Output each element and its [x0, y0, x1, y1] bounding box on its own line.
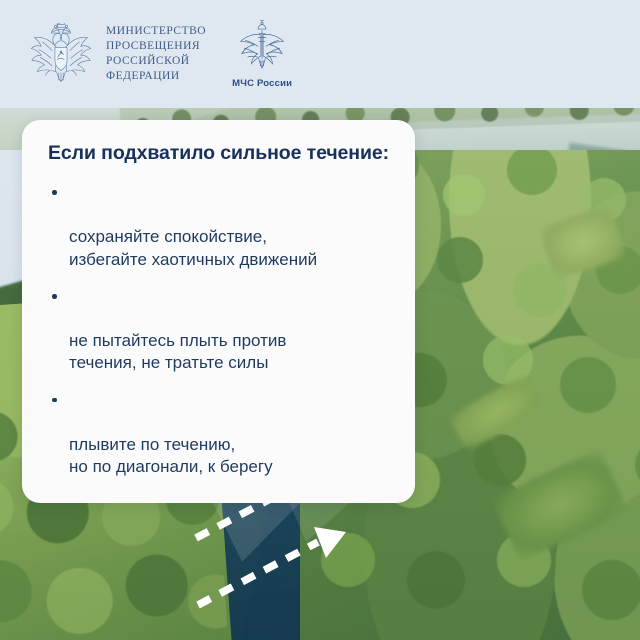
list-item: не пытайтесь плыть против течения, не тр…	[48, 285, 389, 375]
poster: МИНИСТЕРСТВО ПРОСВЕЩЕНИЯ РОССИЙСКОЙ ФЕДЕ…	[0, 0, 640, 640]
mchs-label: МЧС России	[232, 78, 292, 89]
advice-card: Если подхватило сильное течение: сохраня…	[22, 120, 415, 503]
header: МИНИСТЕРСТВО ПРОСВЕЩЕНИЯ РОССИЙСКОЙ ФЕДЕ…	[0, 0, 640, 108]
ministry-name: МИНИСТЕРСТВО ПРОСВЕЩЕНИЯ РОССИЙСКОЙ ФЕДЕ…	[106, 24, 206, 85]
list-item: плывите по течению, но по диагонали, к б…	[48, 389, 389, 479]
list-item-text: сохраняйте спокойствие, избегайте хаотич…	[69, 227, 317, 268]
list-item-text: не пытайтесь плыть против течения, не тр…	[69, 331, 286, 372]
bullet-dot-icon	[52, 190, 57, 195]
bullet-dot-icon	[52, 398, 57, 403]
list-item-text: плывите по течению, но по диагонали, к б…	[69, 435, 273, 476]
mchs-emblem-icon	[234, 19, 290, 75]
list-item: сохраняйте спокойствие, избегайте хаотич…	[48, 181, 389, 271]
card-title: Если подхватило сильное течение:	[48, 142, 389, 165]
mchs-block: МЧС России	[232, 19, 292, 89]
bullet-dot-icon	[52, 294, 57, 299]
advice-list: сохраняйте спокойствие, избегайте хаотич…	[48, 181, 389, 478]
russian-coat-of-arms-icon	[28, 23, 94, 85]
